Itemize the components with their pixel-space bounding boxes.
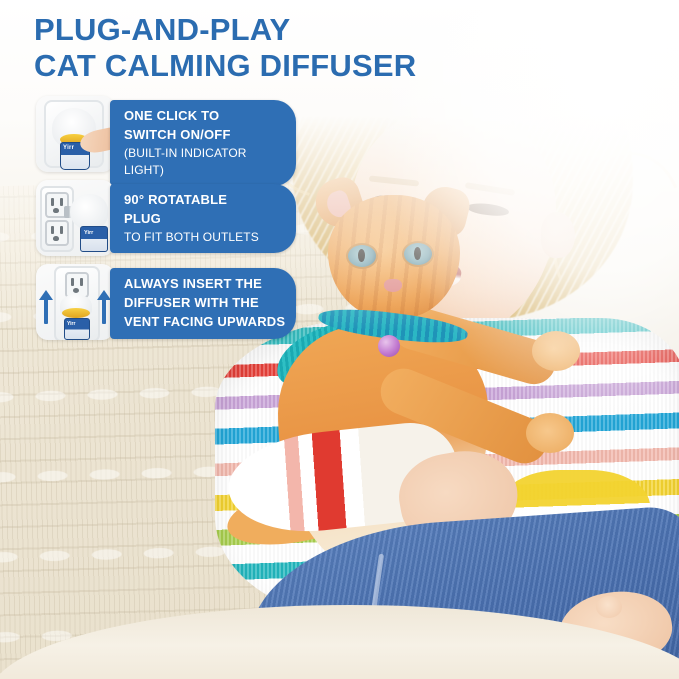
socket-pin bbox=[71, 278, 74, 286]
feature-thumbnail-rotatable-plug: Yirr bbox=[36, 180, 114, 256]
socket-pin bbox=[60, 226, 63, 234]
up-arrow-icon bbox=[44, 298, 48, 324]
diffuser-body-icon bbox=[70, 194, 108, 230]
feature-subtext: (BUILT-IN INDICATOR LIGHT) bbox=[124, 145, 286, 180]
page-title: PLUG-AND-PLAY CAT CALMING DIFFUSER bbox=[34, 12, 474, 84]
title-line-1: PLUG-AND-PLAY bbox=[34, 12, 474, 48]
feature-callout-rotatable-plug: 90° ROTATABLE PLUG TO FIT BOTH OUTLETS bbox=[110, 184, 296, 253]
feature-thumbnail-one-click: Yirr bbox=[36, 96, 114, 172]
socket-ground bbox=[53, 208, 59, 213]
feature-callout-vent-up: ALWAYS INSERT THE DIFFUSER WITH THE VENT… bbox=[110, 268, 296, 339]
feature-list: Yirr ONE CLICK TO SWITCH ON/OFF (BUILT-I… bbox=[36, 96, 296, 348]
feature-rotatable-plug: Yirr 90° ROTATABLE PLUG TO FIT BOTH OUTL… bbox=[36, 180, 296, 258]
socket-pin bbox=[51, 198, 54, 206]
socket-ground bbox=[73, 288, 79, 293]
socket-pin bbox=[60, 198, 63, 206]
up-arrow-icon bbox=[102, 298, 106, 324]
diffuser-vent-icon bbox=[62, 308, 90, 318]
child-toes bbox=[596, 596, 622, 618]
outlet-socket-icon bbox=[45, 220, 69, 246]
feature-one-click-switch: Yirr ONE CLICK TO SWITCH ON/OFF (BUILT-I… bbox=[36, 96, 296, 174]
feature-headline: 90° ROTATABLE bbox=[124, 191, 286, 210]
feature-subtext: TO FIT BOTH OUTLETS bbox=[124, 229, 286, 246]
bottle-brand-label: Yirr bbox=[84, 230, 93, 236]
bottle-brand-label: Yirr bbox=[67, 321, 75, 327]
bottle-brand-label: Yirr bbox=[63, 145, 74, 151]
feature-vent-facing-upwards: Yirr ALWAYS INSERT THE DIFFUSER WITH THE… bbox=[36, 264, 296, 342]
feature-headline: ALWAYS INSERT THE bbox=[124, 275, 286, 294]
feature-headline: PLUG bbox=[124, 210, 286, 229]
feature-headline: ONE CLICK TO bbox=[124, 107, 286, 126]
feature-callout-one-click: ONE CLICK TO SWITCH ON/OFF (BUILT-IN IND… bbox=[110, 100, 296, 186]
feature-headline: SWITCH ON/OFF bbox=[124, 126, 286, 145]
socket-ground bbox=[53, 236, 59, 241]
socket-pin bbox=[80, 278, 83, 286]
feature-headline: DIFFUSER WITH THE bbox=[124, 294, 286, 313]
feature-thumbnail-vent-up: Yirr bbox=[36, 264, 114, 340]
socket-pin bbox=[51, 226, 54, 234]
product-infographic: PLUG-AND-PLAY CAT CALMING DIFFUSER Yirr … bbox=[0, 0, 679, 679]
feature-headline: VENT FACING UPWARDS bbox=[124, 313, 286, 332]
title-line-2: CAT CALMING DIFFUSER bbox=[34, 48, 474, 84]
